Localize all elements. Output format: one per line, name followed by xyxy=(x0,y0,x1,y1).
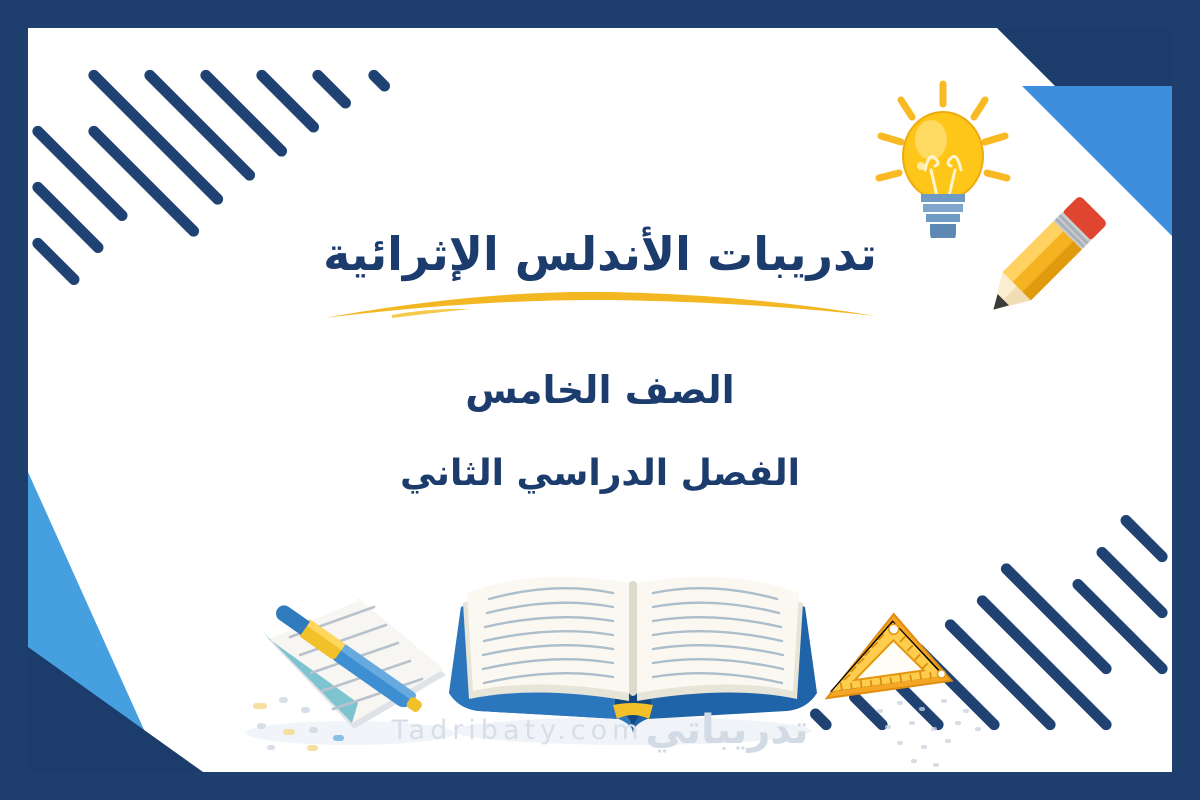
site-arabic-label: تدريباتي xyxy=(645,710,808,750)
term-subtitle: الفصل الدراسي الثاني xyxy=(28,453,1172,494)
title-block: تدريبات الأندلس الإثرائية xyxy=(28,226,1172,322)
cover-page: تدريبات الأندلس الإثرائية الصف الخامس ال… xyxy=(0,0,1200,800)
cover-inner-frame: تدريبات الأندلس الإثرائية الصف الخامس ال… xyxy=(28,28,1172,772)
page-title: تدريبات الأندلس الإثرائية xyxy=(28,226,1172,284)
grade-subtitle: الصف الخامس xyxy=(28,368,1172,412)
gold-swoosh-divider xyxy=(320,288,880,322)
site-latin-label: Tadribaty.com xyxy=(392,715,644,746)
footer-watermark: Tadribaty.com تدريباتي xyxy=(28,710,1172,750)
